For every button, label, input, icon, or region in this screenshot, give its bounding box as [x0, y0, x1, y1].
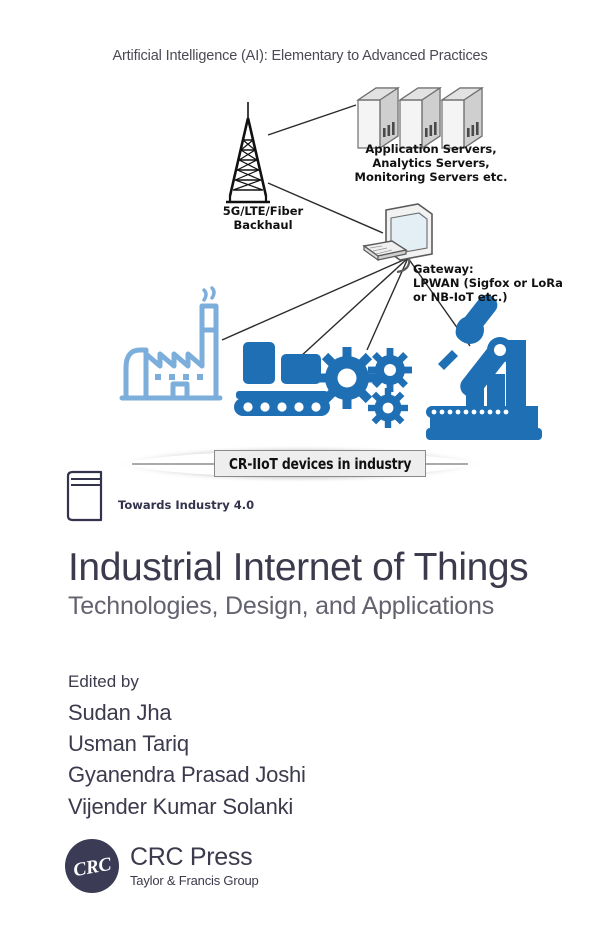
network-architecture-diagram: Application Servers, Analytics Servers, …	[0, 78, 600, 498]
publisher-name: CRC Press	[130, 845, 259, 870]
industry-badge: Towards Industry 4.0	[60, 468, 254, 524]
crc-roundel-icon: CRC	[64, 838, 120, 894]
page-title: Industrial Internet of Things	[68, 546, 528, 590]
editors-block: Edited by Sudan Jha Usman Tariq Gyanendr…	[68, 672, 528, 822]
backhaul-label: 5G/LTE/Fiber Backhaul	[198, 204, 328, 232]
page-subtitle: Technologies, Design, and Applications	[68, 592, 494, 621]
cell-tower-icon	[226, 102, 270, 202]
editor-name: Sudan Jha	[68, 697, 528, 728]
publisher-logo: CRC CRC Press Taylor & Francis Group	[64, 838, 259, 894]
editor-name: Vijender Kumar Solanki	[68, 791, 528, 822]
robot-arm-icon	[426, 291, 542, 440]
book-cover: Artificial Intelligence (AI): Elementary…	[0, 0, 600, 936]
servers-label: Application Servers, Analytics Servers, …	[336, 142, 526, 184]
editor-name: Usman Tariq	[68, 728, 528, 759]
gateway-label: Gateway: LPWAN (Sigfox or LoRa or NB-IoT…	[413, 262, 588, 304]
editor-name: Gyanendra Prasad Joshi	[68, 759, 528, 790]
series-title: Artificial Intelligence (AI): Elementary…	[0, 48, 600, 64]
edited-by-label: Edited by	[68, 672, 528, 692]
gears-icon	[316, 347, 412, 428]
server-stack-icon	[358, 88, 482, 148]
badge-label: Towards Industry 4.0	[118, 498, 254, 512]
factory-icon	[122, 288, 220, 398]
publisher-group: Taylor & Francis Group	[130, 874, 259, 887]
banner-text: CR-IIoT devices in industry	[229, 455, 411, 473]
conveyor-boxes-icon	[234, 342, 330, 416]
book-icon	[60, 468, 106, 524]
